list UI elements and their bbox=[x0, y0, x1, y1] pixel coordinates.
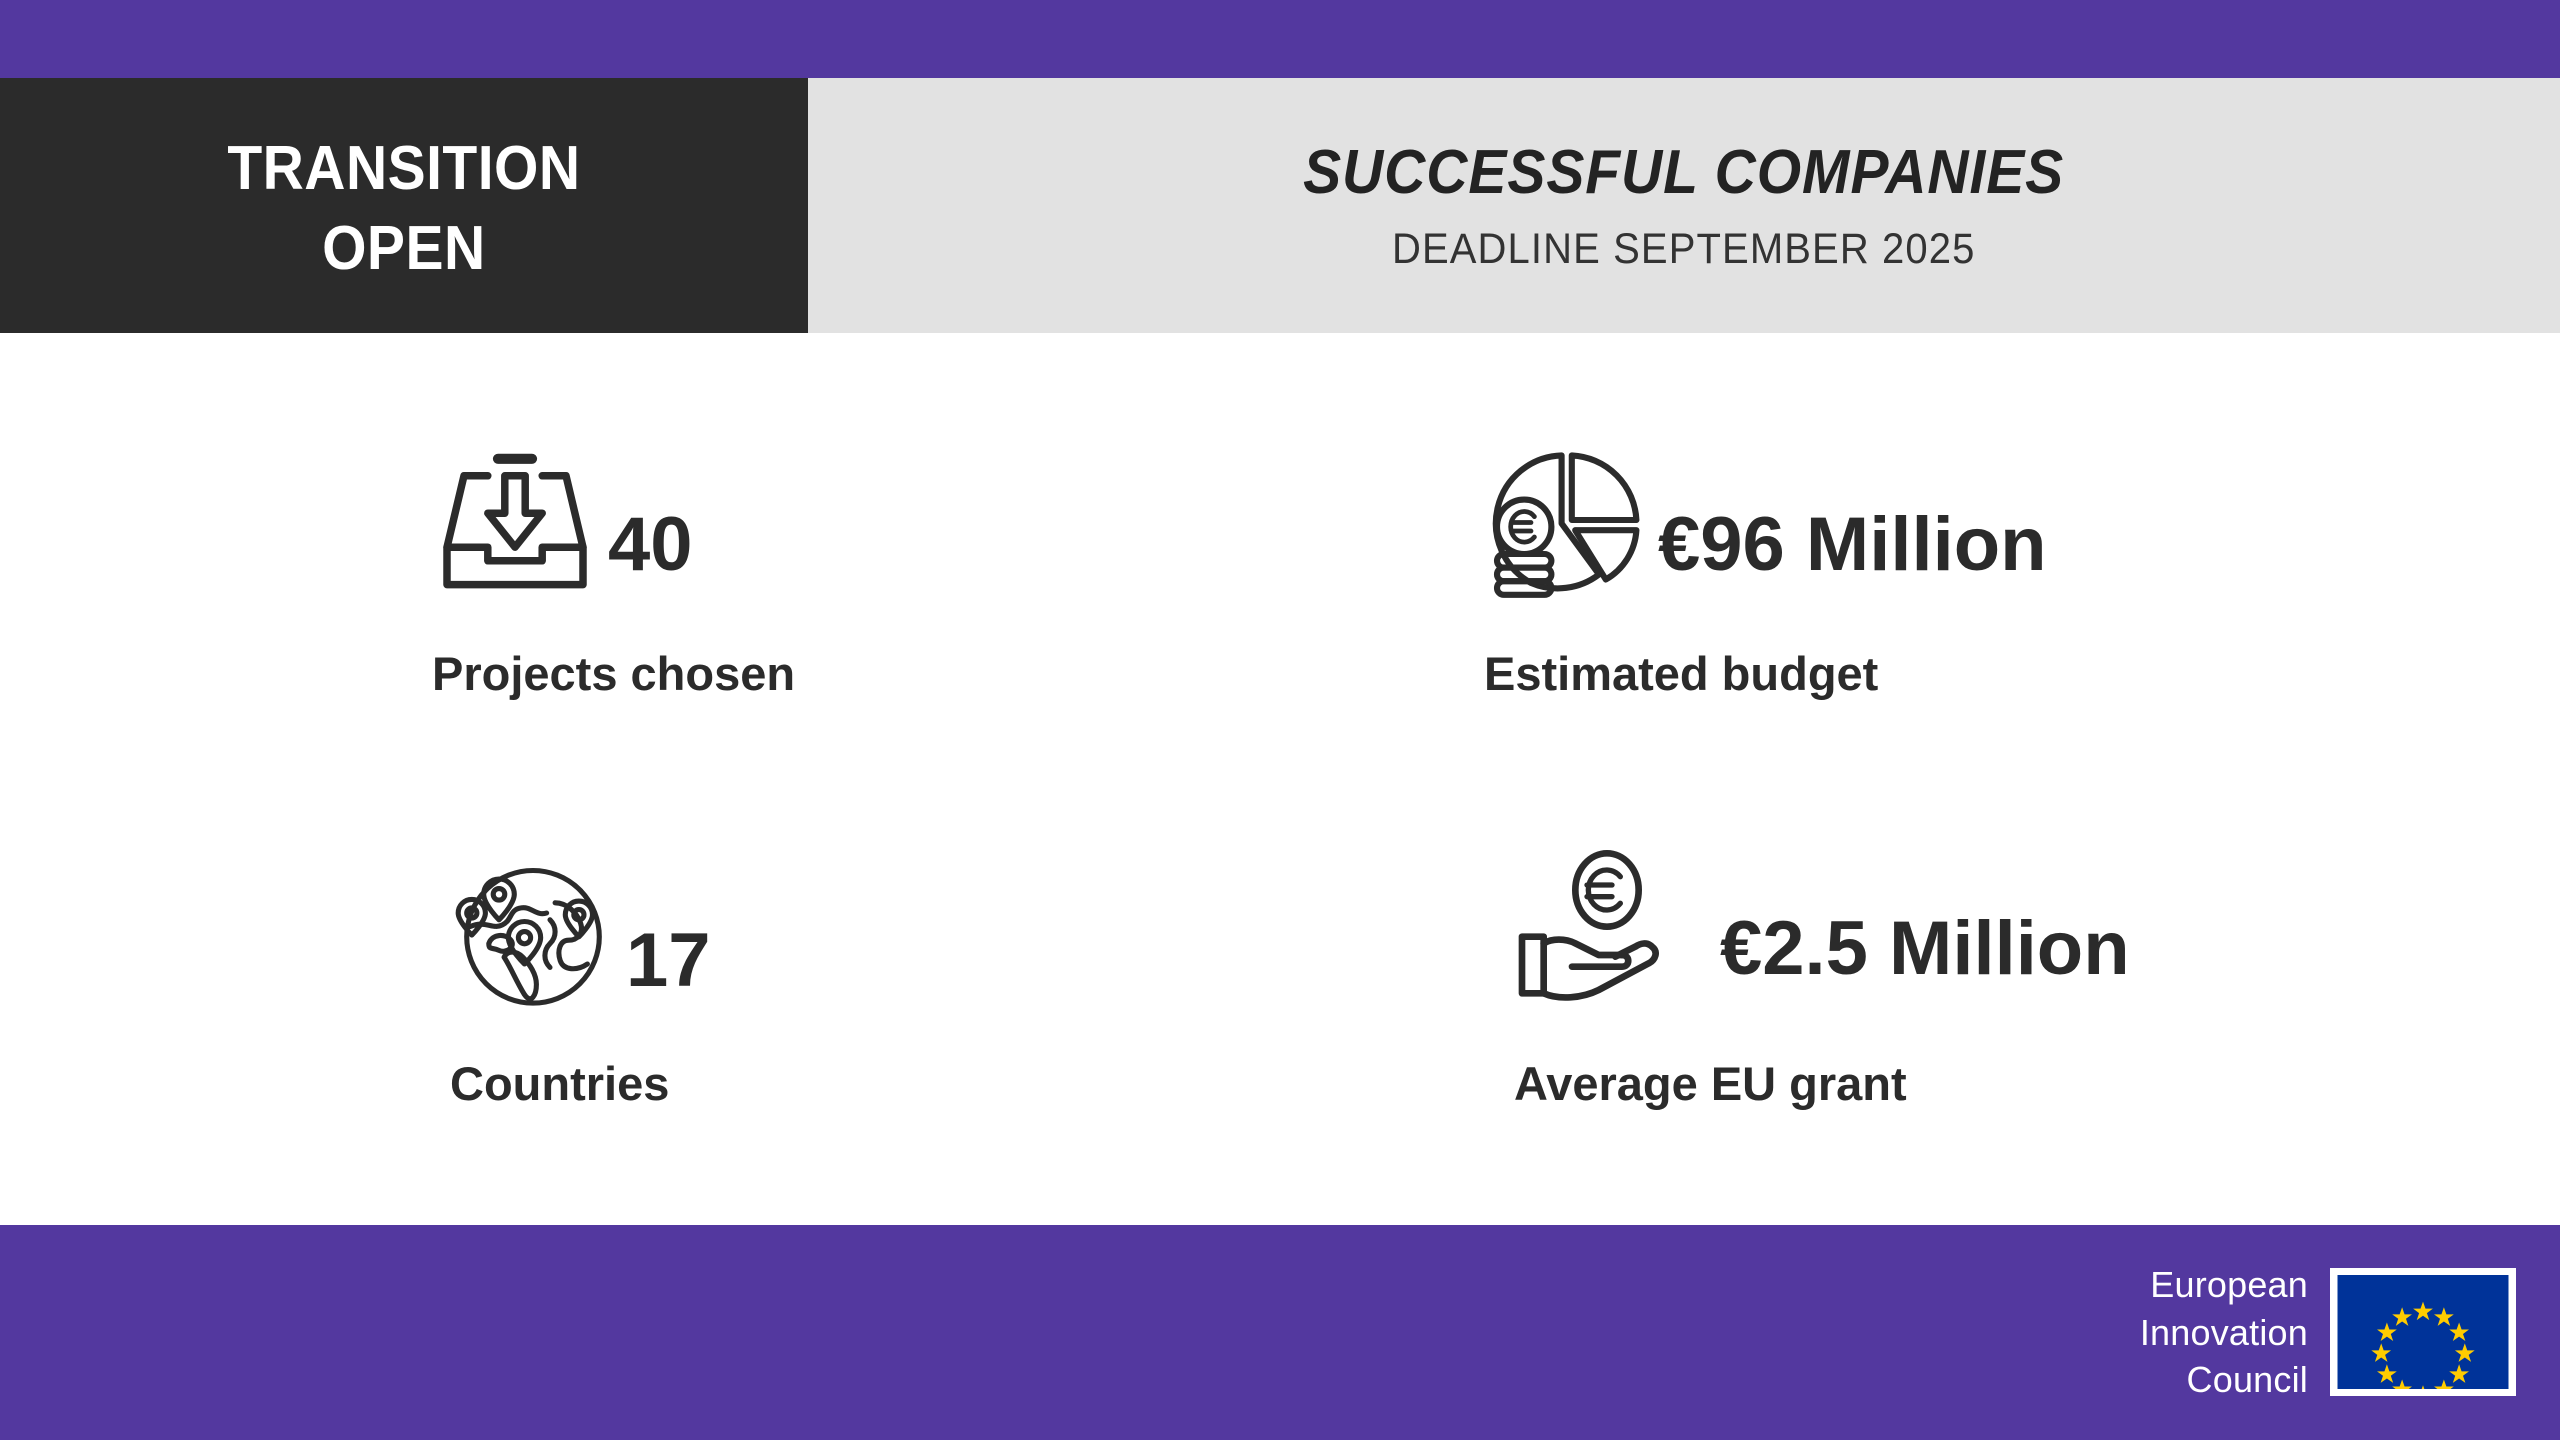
eic-logo: European Innovation Council bbox=[2140, 1261, 2516, 1404]
stat-headline: 17 bbox=[448, 825, 1430, 1015]
eu-flag-icon bbox=[2330, 1268, 2516, 1396]
top-brand-band bbox=[0, 0, 2560, 78]
inbox-download-icon bbox=[430, 435, 600, 605]
statistics-grid: 40 Projects chosen bbox=[0, 333, 2560, 1225]
hand-euro-coin-icon bbox=[1512, 845, 1712, 1015]
stat-value: 17 bbox=[626, 923, 711, 1015]
stat-headline: €2.5 Million bbox=[1512, 825, 2480, 1015]
stat-value: €2.5 Million bbox=[1720, 911, 2130, 1015]
stat-label: Projects chosen bbox=[432, 650, 1430, 697]
header-row: TRANSITION OPEN SUCCESSFUL COMPANIES DEA… bbox=[0, 78, 2560, 333]
deadline-subtitle: DEADLINE SEPTEMBER 2025 bbox=[1392, 220, 1976, 278]
infographic-poster: TRANSITION OPEN SUCCESSFUL COMPANIES DEA… bbox=[0, 0, 2560, 1440]
programme-name-line1: TRANSITION bbox=[227, 129, 580, 208]
pie-chart-euro-coins-icon bbox=[1480, 435, 1650, 605]
stat-value: €96 Million bbox=[1658, 507, 2047, 605]
programme-name-line2: OPEN bbox=[322, 209, 486, 288]
programme-banner: TRANSITION OPEN bbox=[0, 78, 808, 333]
eic-logo-line1: European bbox=[2140, 1261, 2308, 1309]
stat-headline: 40 bbox=[430, 415, 1430, 605]
stat-label: Estimated budget bbox=[1484, 650, 2480, 697]
page-title: SUCCESSFUL COMPANIES bbox=[1303, 137, 2064, 208]
eic-logo-line2: Innovation bbox=[2140, 1309, 2308, 1357]
stat-card-countries: 17 Countries bbox=[430, 825, 1430, 1107]
eic-logo-text: European Innovation Council bbox=[2140, 1261, 2308, 1404]
globe-map-pins-icon bbox=[448, 845, 618, 1015]
stat-card-projects-chosen: 40 Projects chosen bbox=[430, 415, 1430, 697]
stat-value: 40 bbox=[608, 507, 693, 605]
stat-label: Countries bbox=[450, 1060, 1430, 1107]
stat-label: Average EU grant bbox=[1514, 1060, 2480, 1107]
stat-card-average-eu-grant: €2.5 Million Average EU grant bbox=[1480, 825, 2480, 1107]
footer-band: European Innovation Council bbox=[0, 1225, 2560, 1440]
stat-card-estimated-budget: €96 Million Estimated budget bbox=[1480, 415, 2480, 697]
stat-headline: €96 Million bbox=[1480, 415, 2480, 605]
eic-logo-line3: Council bbox=[2140, 1356, 2308, 1404]
results-banner: SUCCESSFUL COMPANIES DEADLINE SEPTEMBER … bbox=[808, 78, 2560, 333]
